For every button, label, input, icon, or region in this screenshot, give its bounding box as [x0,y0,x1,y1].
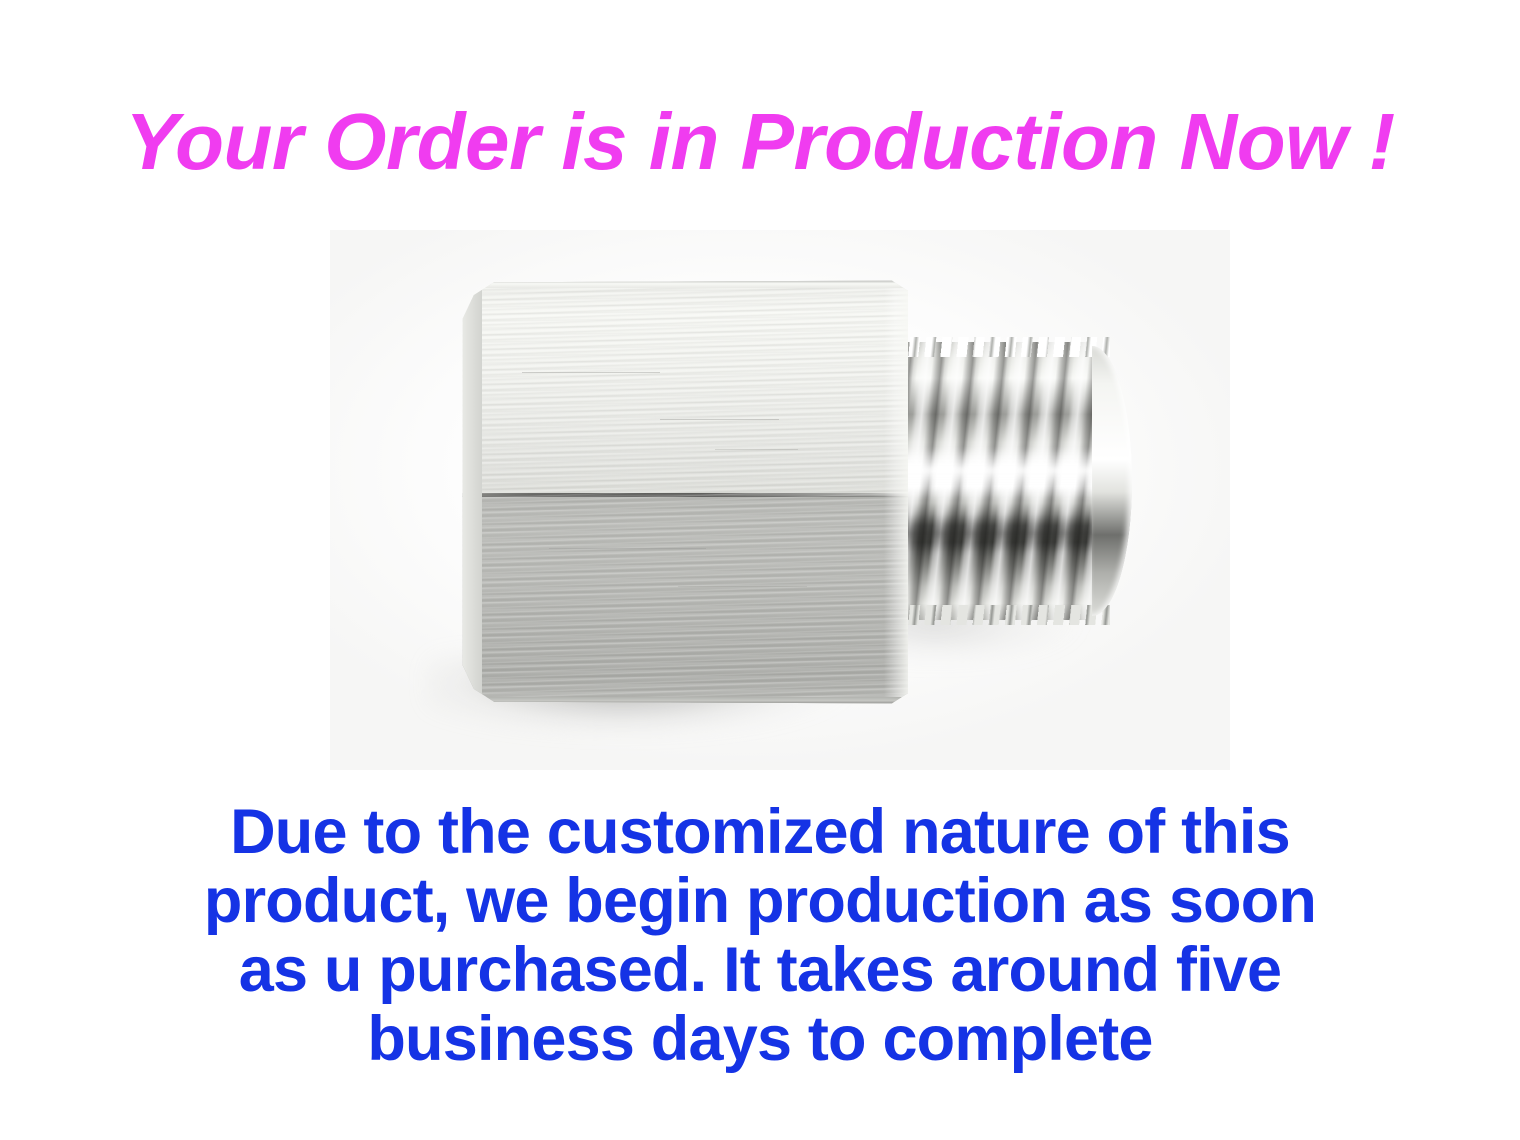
page-title: Your Order is in Production Now ! [0,96,1520,188]
hex-bottom-edge [476,697,908,706]
surface-scratch [660,419,780,420]
hex-right-face [884,278,908,706]
hex-nut-body [448,278,908,706]
surface-scratch [715,449,798,450]
product-photo [330,230,1230,770]
surface-scratch [549,548,705,549]
brushed-texture-fine [448,278,908,706]
notice-line: product, we begin production as soon [0,867,1520,936]
production-notice: Due to the customized nature of this pro… [0,798,1520,1074]
notice-line: Due to the customized nature of this [0,798,1520,867]
notice-line: business days to complete [0,1005,1520,1074]
notice-line: as u purchased. It takes around five [0,936,1520,1005]
hex-top-edge [476,278,908,288]
surface-scratch [522,372,660,373]
hex-left-chamfer [448,278,482,706]
promo-image-canvas: Your Order is in Production Now ! [0,0,1520,1140]
hex-silhouette [448,278,908,706]
surface-scratch [678,586,807,587]
